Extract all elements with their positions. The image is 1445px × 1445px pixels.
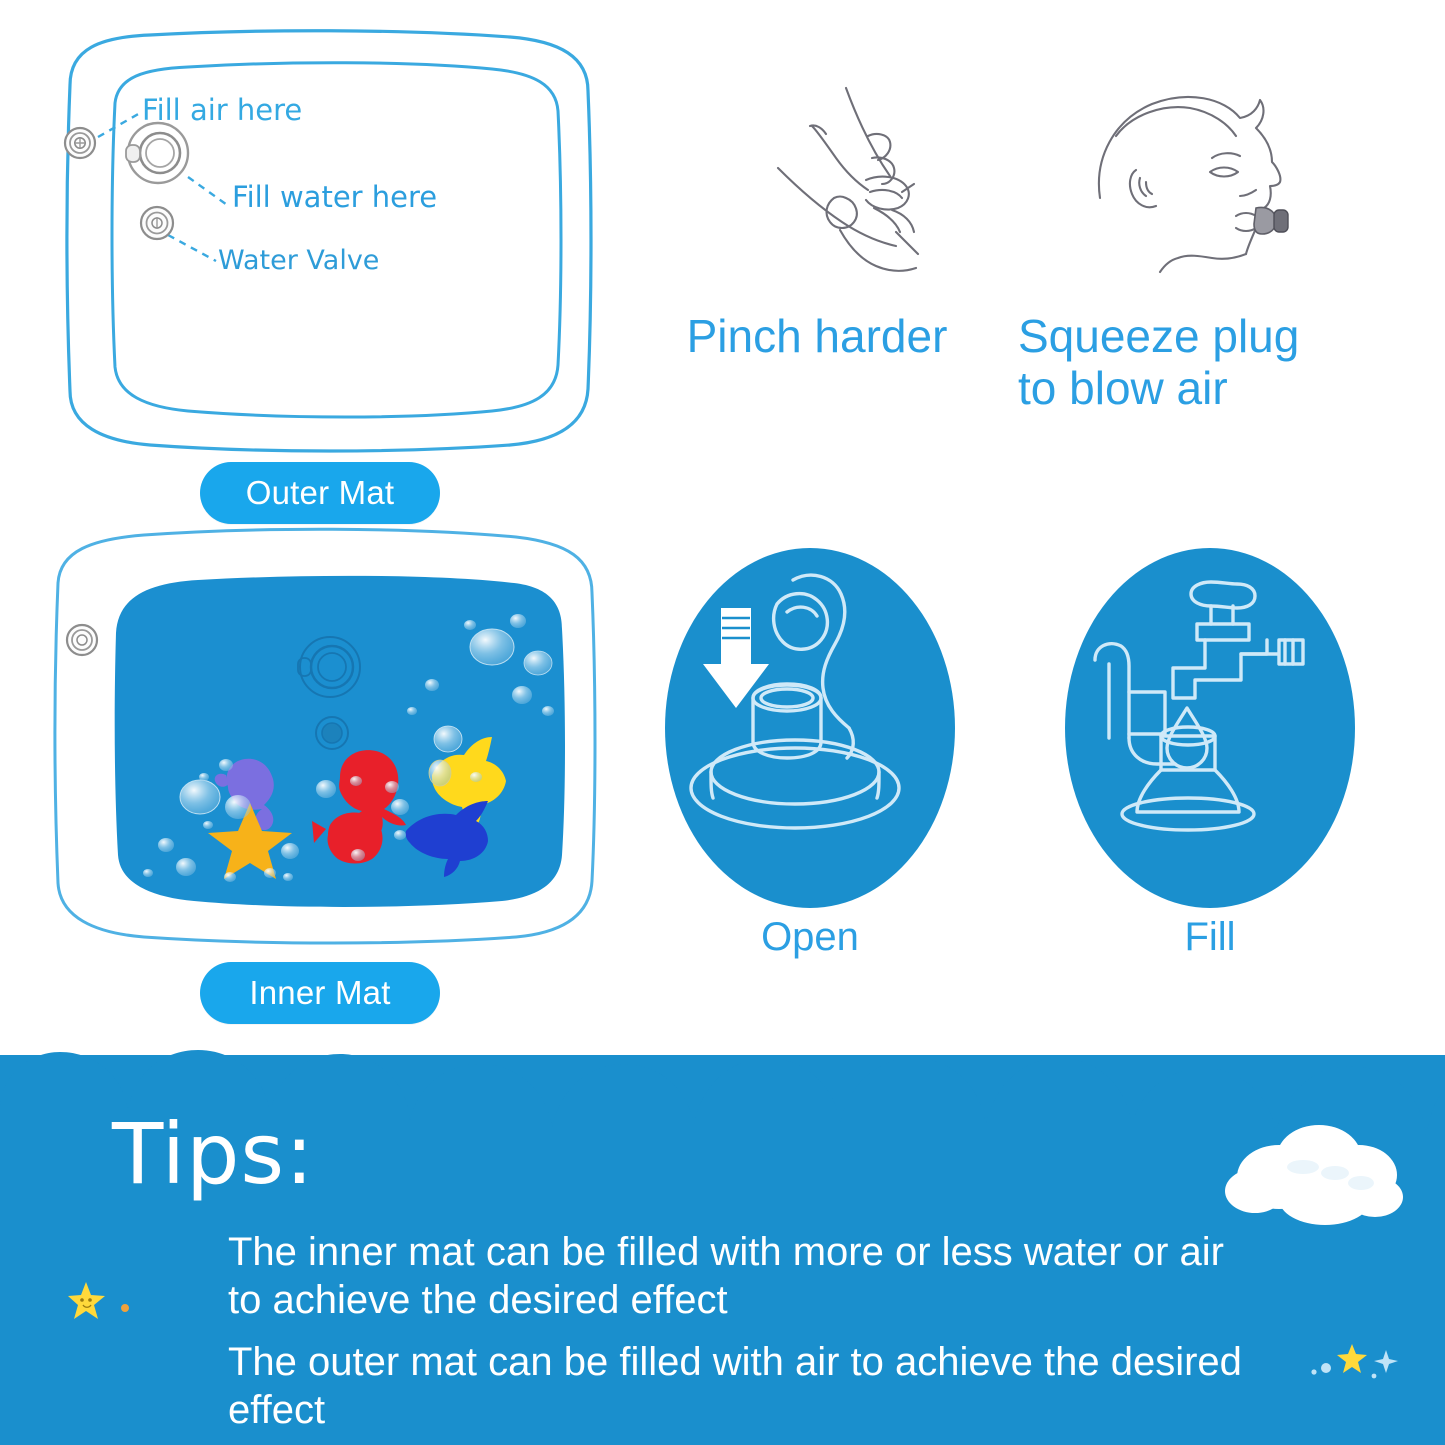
callout-water-valve: Water Valve (218, 245, 379, 276)
cloud-decoration (1215, 1115, 1415, 1245)
infographic-page: Fill air here Fill water here Water Valv… (0, 0, 1445, 1445)
star-sparkle-left (68, 1278, 138, 1328)
blow-plug-sketch (1060, 80, 1380, 310)
caption-squeeze-plug: Squeeze plug to blow air (1018, 310, 1388, 414)
air-valve-icon (67, 625, 97, 655)
inner-mat-figure (40, 525, 610, 945)
inner-mat-drawing (40, 525, 610, 945)
outer-mat-drawing (40, 25, 610, 455)
faucet-fill-icon (1065, 548, 1355, 908)
air-valve-icon (65, 128, 95, 158)
water-fill-port-icon (126, 123, 188, 183)
caption-squeeze-line-2: to blow air (1018, 362, 1388, 414)
open-step-circle (665, 548, 955, 908)
pinch-valve-sketch (700, 80, 1000, 310)
leader-line-water (188, 177, 230, 207)
label-fill-step: Fill (1065, 915, 1355, 960)
leader-line-air (98, 113, 140, 137)
star-sparkle-right (1310, 1340, 1420, 1390)
tip-line-inner-mat: The inner mat can be filled with more or… (228, 1228, 1268, 1324)
callout-fill-water-here: Fill water here (232, 180, 437, 214)
valve-open-icon (665, 548, 955, 908)
water-valve-icon (141, 207, 173, 239)
outer-mat-figure: Fill air here Fill water here Water Valv… (40, 25, 610, 455)
plug-icon (1254, 207, 1288, 234)
leader-line-valve (168, 235, 216, 261)
tips-title: Tips: (112, 1105, 314, 1203)
caption-squeeze-line-1: Squeeze plug (1018, 310, 1388, 362)
badge-outer-mat: Outer Mat (200, 462, 440, 524)
down-arrow-icon (703, 608, 769, 708)
fill-step-circle (1065, 548, 1355, 908)
callout-fill-air-here: Fill air here (142, 93, 302, 127)
caption-pinch-harder: Pinch harder (637, 310, 997, 362)
badge-inner-mat: Inner Mat (200, 962, 440, 1024)
tip-line-outer-mat: The outer mat can be filled with air to … (228, 1338, 1268, 1434)
label-open-step: Open (665, 915, 955, 960)
